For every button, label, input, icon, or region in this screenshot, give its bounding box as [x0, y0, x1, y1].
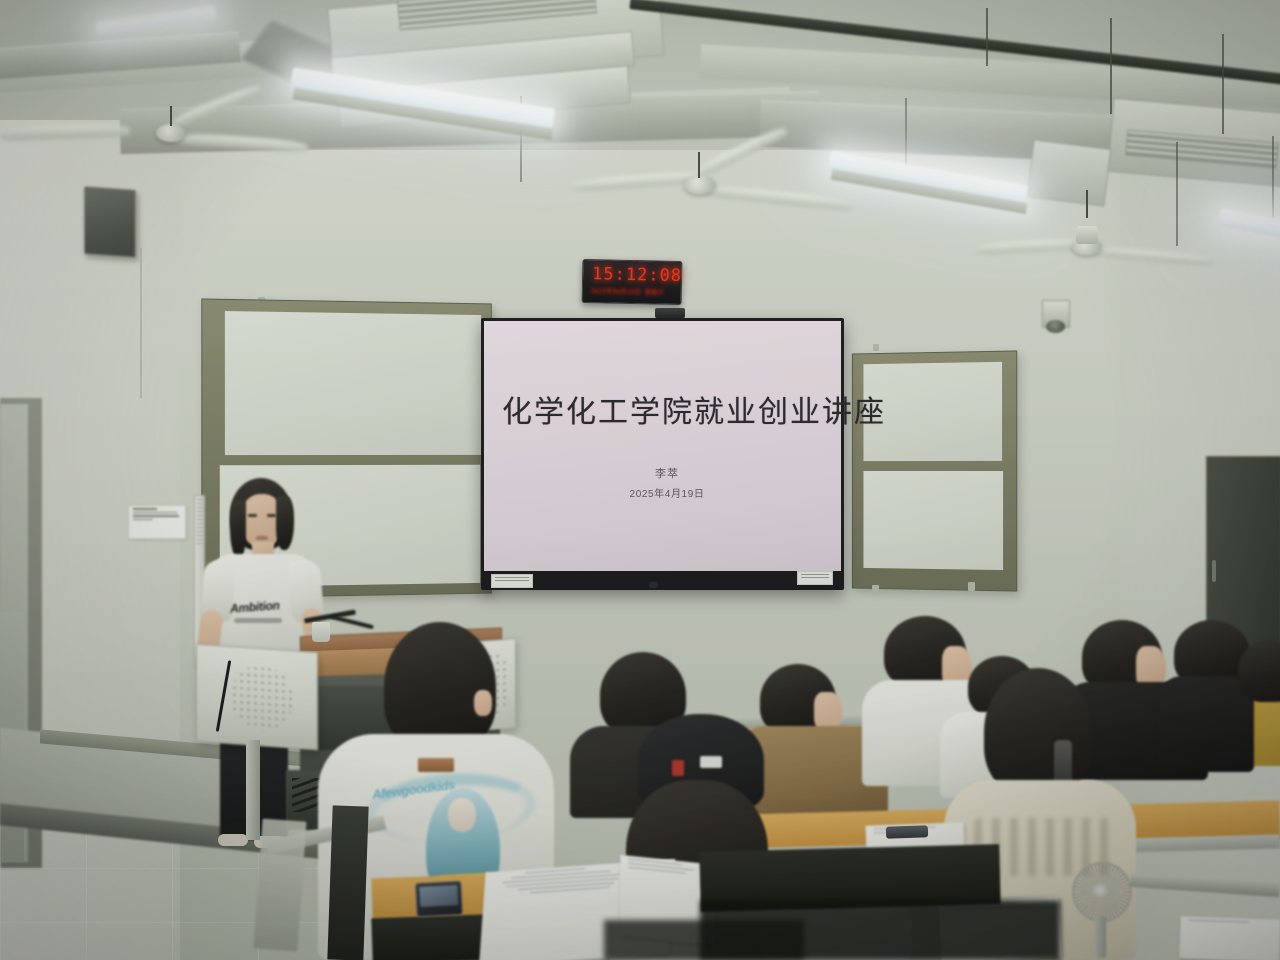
slide-date: 2025年4月19日	[502, 485, 832, 500]
ceiling-fan-right	[1010, 208, 1210, 264]
chair-back-left	[327, 805, 368, 960]
presenter-eye-right	[267, 514, 276, 517]
podium-speaker-left	[196, 644, 318, 751]
ceiling-rod-1	[986, 8, 988, 66]
led-wall-clock: 15:12:08 2025年04月19日 星期六	[582, 259, 683, 305]
presenter-eye-left	[248, 514, 257, 517]
slide-title: 化学化工学院就业创业讲座	[502, 387, 832, 431]
podium-stand	[246, 740, 260, 840]
slide-presenter: 李萃	[502, 465, 832, 481]
presenter-hair-side-left	[230, 500, 246, 558]
display-camera-bar	[655, 308, 685, 318]
dome-camera	[1046, 320, 1065, 333]
desk-fan-hub	[1092, 882, 1108, 898]
ceiling-rod-2	[1110, 18, 1112, 114]
podium-speaker-left-grille	[231, 663, 293, 733]
wall-notice	[128, 505, 186, 539]
whiteboard-right-foot-2	[968, 582, 975, 591]
slide-surface: 化学化工学院就业创业讲座 李萃 2025年4月19日	[484, 321, 841, 571]
bezel-label-right	[797, 571, 833, 585]
hoodie-leather-tag	[418, 758, 454, 772]
classroom-photo: 15:12:08 2025年04月19日 星期六 化学化工学院就业创业讲座 李萃…	[0, 0, 1280, 960]
student-row2-edge-hair	[1238, 640, 1280, 702]
ac-vent-right-mid	[1027, 139, 1111, 206]
bezel-label-left	[491, 574, 533, 588]
presenter-tshirt-print-underline	[234, 618, 282, 623]
presenter-hair-side-right	[276, 496, 294, 550]
smartphone-screen	[419, 885, 458, 907]
whiteboard-right-foot-1	[872, 585, 879, 594]
whiteboard-right-clip-1	[873, 344, 879, 351]
cap-strap	[700, 756, 722, 768]
portable-desk-fan[interactable]	[1068, 862, 1134, 958]
presentation-display[interactable]: 化学化工学院就业创业讲座 李萃 2025年4月19日	[481, 318, 844, 590]
cap-logo	[672, 760, 684, 776]
ceiling-rod-7	[905, 98, 907, 172]
ceiling-rod-3	[1222, 34, 1224, 134]
hoodie-madonna-face	[448, 798, 476, 832]
wall-speaker-cable	[140, 248, 142, 398]
student-row2-edge	[1238, 640, 1280, 760]
whiteboard-right-panel-bottom	[863, 471, 1003, 570]
presenter-mouth	[256, 536, 268, 540]
smartphone-on-desk[interactable]	[415, 881, 463, 917]
presenter-shoe-left	[218, 834, 248, 846]
wall-speaker	[84, 186, 136, 258]
desk-fan-stem	[1094, 916, 1106, 958]
ceiling-fan-center	[600, 152, 860, 210]
clock-date: 2025年04月19日 星期六	[591, 286, 675, 297]
display-ir-sensor	[649, 582, 658, 588]
student-front-cream-hair	[984, 668, 1092, 796]
student-front-hoodie-ear	[474, 690, 492, 716]
shadow-foreground-right	[604, 920, 804, 960]
student-front-hoodie-hair	[384, 622, 496, 750]
bench-rail-left-foreground	[254, 819, 307, 952]
pencil-case	[886, 825, 928, 838]
right-door-handle[interactable]	[1212, 560, 1216, 582]
loose-paper-far-right	[1179, 916, 1280, 960]
whiteboard-left-panel-top	[225, 311, 481, 455]
ceiling-fan-left	[60, 106, 300, 166]
clock-time: 15:12:08	[592, 264, 682, 286]
whiteboard-right	[852, 350, 1017, 591]
